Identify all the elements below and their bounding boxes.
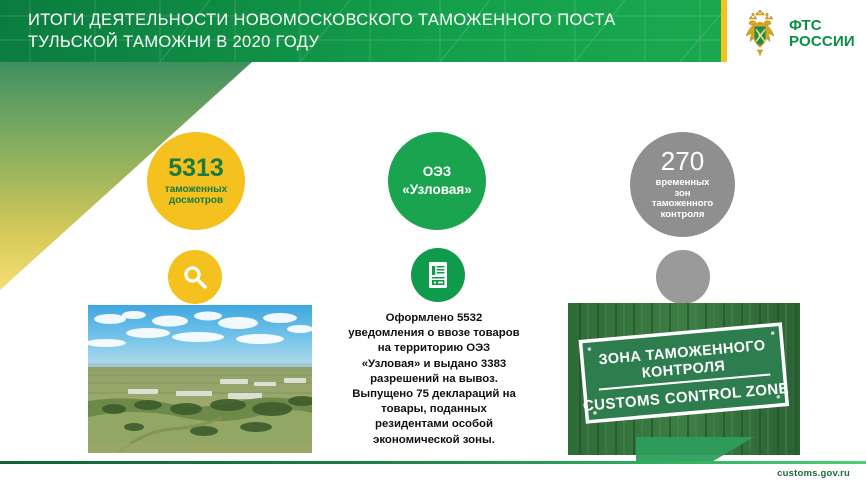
customs-control-zone-sign-photo: ЗОНА ТАМОЖЕННОГО КОНТРОЛЯ CUSTOMS CONTRO… xyxy=(568,303,800,455)
stat-number-zones: 270 xyxy=(661,148,704,175)
magnifier-icon xyxy=(180,262,210,292)
fts-logo: ФТС РОССИИ xyxy=(738,8,860,60)
double-headed-eagle-emblem xyxy=(738,10,782,58)
stat-circle-sez: ОЭЗ «Узловая» xyxy=(388,132,486,230)
document-icon xyxy=(424,260,452,290)
stat-circle-zones: 270 временных зон таможенного контроля xyxy=(630,132,735,237)
document-icon-badge xyxy=(411,248,465,302)
magnifier-icon-badge xyxy=(168,250,222,304)
aerial-landscape-photo xyxy=(88,305,312,453)
stat-caption-sez: «Узловая» xyxy=(402,182,471,197)
stat-caption-zones: временных зон таможенного контроля xyxy=(652,178,713,221)
center-text-block: Оформлено 5532 уведомления о ввозе товар… xyxy=(336,311,532,448)
stat-caption-inspections: таможенных досмотров xyxy=(165,184,227,206)
footer-divider xyxy=(0,461,866,464)
footer-website-url: customs.gov.ru xyxy=(777,468,850,479)
fts-logo-text: ФТС РОССИИ xyxy=(789,18,855,50)
stat-circle-inspections: 5313 таможенных досмотров xyxy=(147,132,245,230)
aerial-landscape-graphic xyxy=(88,305,312,453)
plain-circle-icon-badge xyxy=(656,250,710,304)
slide-root: ИТОГИ ДЕЯТЕЛЬНОСТИ НОВОМОСКОВСКОГО ТАМОЖ… xyxy=(0,0,866,487)
stat-number-inspections: 5313 xyxy=(168,156,224,182)
customs-sign-graphic: ЗОНА ТАМОЖЕННОГО КОНТРОЛЯ CUSTOMS CONTRO… xyxy=(568,303,800,455)
header-accent-stripe xyxy=(721,0,727,62)
header-band: ИТОГИ ДЕЯТЕЛЬНОСТИ НОВОМОСКОВСКОГО ТАМОЖ… xyxy=(0,0,721,62)
page-title: ИТОГИ ДЕЯТЕЛЬНОСТИ НОВОМОСКОВСКОГО ТАМОЖ… xyxy=(28,9,688,53)
stat-number-sez: ОЭЗ xyxy=(423,165,451,179)
